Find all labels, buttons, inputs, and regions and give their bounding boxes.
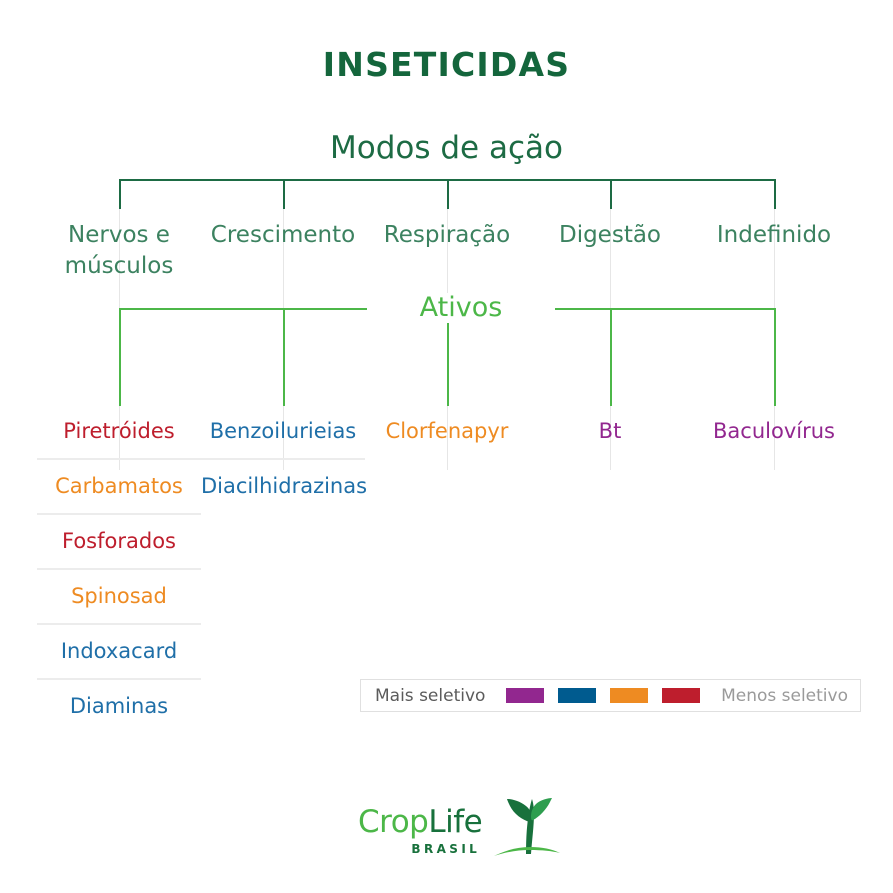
actives-column-3: Clorfenapyr [365, 405, 529, 458]
subtitle-modes-of-action: Modos de ação [0, 130, 893, 166]
legend-less-selective-label: Menos seletivo [721, 686, 860, 706]
page-title: INSETICIDAS [0, 45, 893, 84]
sprout-icon [486, 798, 564, 864]
logo-country-brasil: BRASIL [411, 843, 480, 855]
mode-header-4: Digestão [528, 220, 692, 251]
actives-column-4: Bt [528, 405, 692, 458]
ativos-label: Ativos [367, 293, 555, 323]
ativos-bracket-tick-1 [283, 308, 285, 406]
modes-bracket-tick-0 [119, 179, 121, 209]
croplife-brasil-logo: CropLife BRASIL [358, 798, 564, 864]
mode-header-2: Crescimento [201, 220, 365, 251]
logo-word-life: Life [428, 804, 482, 840]
active-ingredient: Diacilhidrazinas [201, 460, 365, 513]
active-ingredient: Carbamatos [37, 460, 201, 515]
legend-swatch-blue [558, 688, 596, 703]
legend-swatches [485, 688, 721, 703]
mode-header-1: Nervos e músculos [37, 220, 201, 282]
legend-swatch-red [662, 688, 700, 703]
modes-bracket-tick-3 [610, 179, 612, 209]
logo-wordmark: CropLife BRASIL [358, 807, 482, 855]
ativos-bracket-tick-3 [610, 308, 612, 406]
actives-column-2: BenzoilurieiasDiacilhidrazinas [201, 405, 365, 513]
active-ingredient: Indoxacard [37, 625, 201, 680]
active-ingredient: Piretróides [37, 405, 201, 460]
ativos-bracket-tick-4 [774, 308, 776, 406]
legend-swatch-purple [506, 688, 544, 703]
insecticide-mode-of-action-diagram: INSETICIDAS Modos de ação Nervos e múscu… [0, 0, 893, 893]
logo-words: CropLife [358, 807, 482, 838]
logo-word-crop: Crop [358, 804, 428, 840]
active-ingredient: Bt [528, 405, 692, 458]
legend-swatch-orange [610, 688, 648, 703]
active-ingredient: Benzoilurieias [201, 405, 365, 460]
active-ingredient: Diaminas [37, 680, 201, 733]
actives-column-1: PiretróidesCarbamatosFosforadosSpinosadI… [37, 405, 201, 733]
mode-header-5: Indefinido [692, 220, 856, 251]
ativos-bracket-tick-0 [119, 308, 121, 406]
selectivity-legend: Mais seletivo Menos seletivo [360, 679, 861, 712]
modes-bracket-tick-2 [447, 179, 449, 209]
modes-bracket-tick-4 [774, 179, 776, 209]
active-ingredient: Clorfenapyr [365, 405, 529, 458]
mode-header-3: Respiração [365, 220, 529, 251]
active-ingredient: Spinosad [37, 570, 201, 625]
actives-column-5: Baculovírus [692, 405, 856, 458]
modes-bracket-tick-1 [283, 179, 285, 209]
legend-more-selective-label: Mais seletivo [361, 686, 485, 706]
active-ingredient: Baculovírus [692, 405, 856, 458]
active-ingredient: Fosforados [37, 515, 201, 570]
